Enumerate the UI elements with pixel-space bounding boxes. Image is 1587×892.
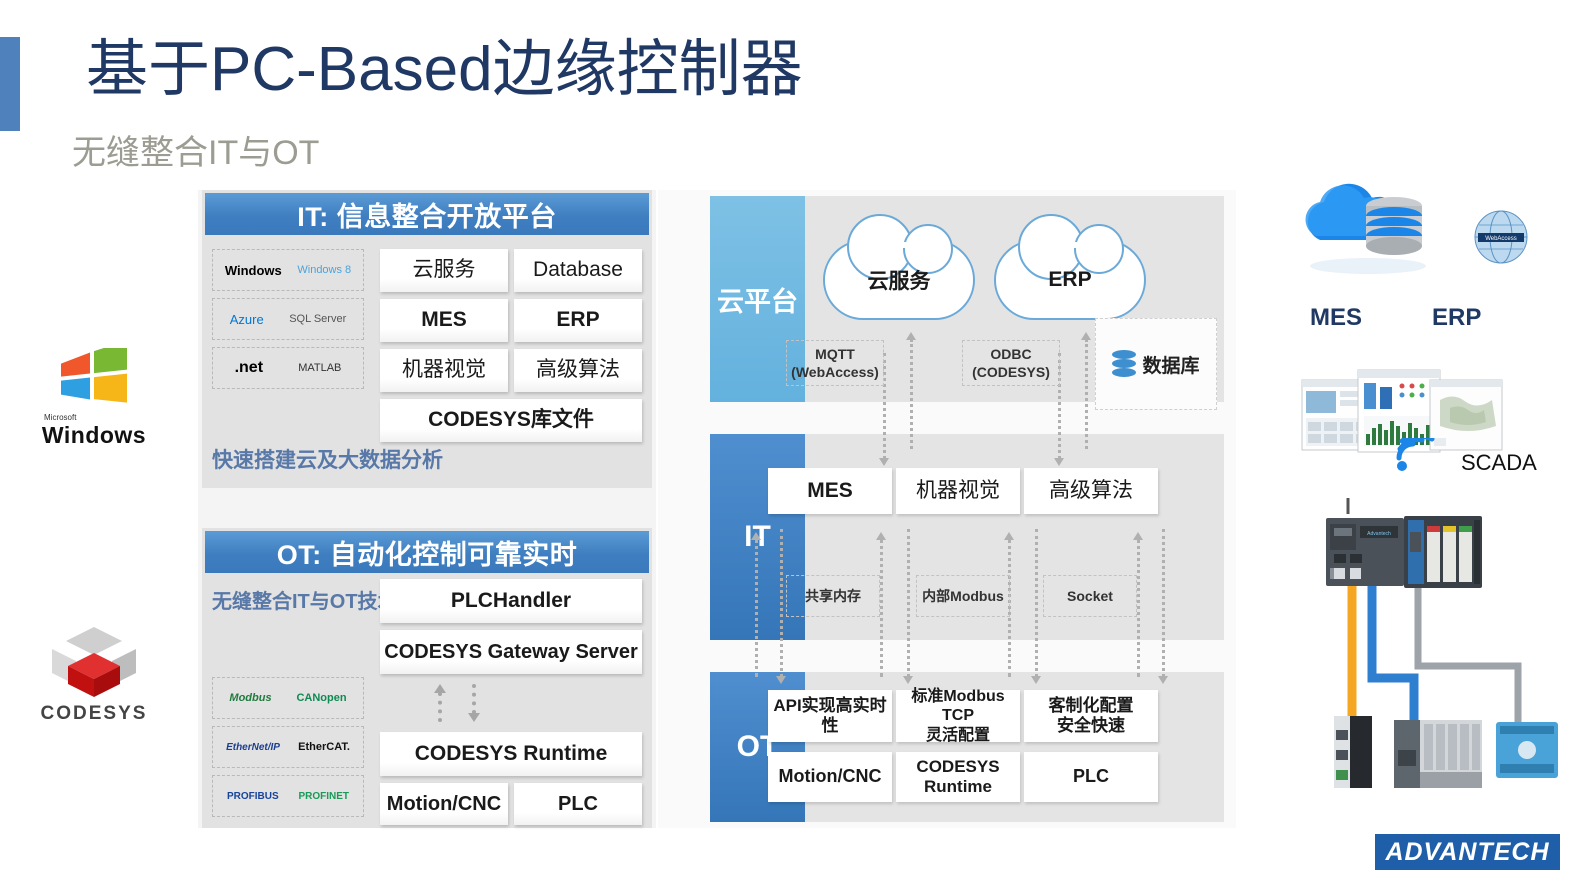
ot-inner-arrow-up: [434, 684, 446, 730]
mid-box-custom-config-line1: 客制化配置: [1049, 696, 1134, 715]
interface-box-internal-modbus[interactable]: 内部Modbus: [916, 575, 1010, 617]
database-icon: [1112, 350, 1136, 378]
logo-tile-profibus: PROFIBUS PROFINET: [212, 775, 364, 817]
database-card[interactable]: 数据库: [1095, 318, 1217, 410]
protocol-box-mqtt[interactable]: MQTT (WebAccess): [786, 340, 884, 386]
box-codesys-runtime[interactable]: CODESYS Runtime: [380, 732, 642, 776]
left-it-header: IT: 信息整合开放平台: [205, 193, 649, 235]
mid-box-plc[interactable]: PLC: [1024, 752, 1158, 802]
left-ot-section: OT: 自动化控制可靠实时 无缝整合IT与OT技术 Modbus CANopen…: [202, 528, 652, 828]
box-machine-vision[interactable]: 机器视觉: [380, 349, 508, 392]
protocol-mqtt-line2: (WebAccess): [791, 364, 879, 380]
codesys-caption: CODESYS: [41, 703, 148, 724]
left-ot-header: OT: 自动化控制可靠实时: [205, 531, 649, 573]
protocol-odbc-line2: (CODESYS): [972, 364, 1050, 380]
mid-box-custom-config-line2: 安全快速: [1057, 716, 1125, 735]
mid-box-api-realtime[interactable]: API实现高实时性: [768, 690, 892, 742]
box-codesys-gateway-server[interactable]: CODESYS Gateway Server: [380, 630, 642, 674]
windows-vendor-label: Microsoft: [44, 414, 174, 422]
windows-caption: Windows: [42, 422, 146, 448]
left-it-row-2: MES ERP: [380, 299, 642, 342]
box-mes[interactable]: MES: [380, 299, 508, 342]
mid-box-api-realtime-line1: API实现高实时性: [773, 696, 886, 735]
box-plchandler[interactable]: PLCHandler: [380, 579, 642, 623]
protocol-mqtt-line1: MQTT: [815, 346, 855, 362]
logo-tile-ethernetip: EtherNet/IP EtherCAT.: [212, 726, 364, 768]
right-illustration-column: WebAccess MES ERP: [1290, 178, 1587, 892]
mid-box-plc-line1: PLC: [1073, 766, 1109, 786]
webaccess-badge-label: WebAccess: [1485, 236, 1517, 242]
arrow-it-ot-4-down: [1158, 522, 1169, 684]
codesys-cube-icon: [46, 625, 142, 699]
interface-box-shared-memory[interactable]: 共享内存: [786, 575, 880, 617]
logo-dotnet-label: .net: [235, 359, 263, 377]
box-cloud-service[interactable]: 云服务: [380, 249, 508, 292]
box-database[interactable]: Database: [514, 249, 642, 292]
box-motion-cnc[interactable]: Motion/CNC: [380, 783, 508, 825]
box-erp[interactable]: ERP: [514, 299, 642, 342]
left-it-note: 快速搭建云及大数据分析: [212, 444, 443, 474]
left-it-row-1: 云服务 Database: [380, 249, 642, 292]
logo-tile-dotnet: .net MATLAB: [212, 347, 364, 389]
protocol-odbc-line1: ODBC: [990, 346, 1031, 362]
logo-canopen-label: CANopen: [296, 692, 346, 704]
mid-box-machine-vision[interactable]: 机器视觉: [896, 468, 1020, 514]
left-it-section: IT: 信息整合开放平台 Windows Windows 8 Azure SQL…: [202, 190, 652, 488]
logo-tile-windows: Windows Windows 8: [212, 249, 364, 291]
mid-box-motion-cnc-line1: Motion/CNC: [779, 766, 882, 786]
arrow-mqtt-cloud-up: [906, 332, 917, 456]
box-codesys-library[interactable]: CODESYS库文件: [380, 399, 642, 442]
mid-box-modbus-tcp-line2: 灵活配置: [926, 727, 990, 744]
codesys-logo: CODESYS: [14, 625, 174, 725]
mid-box-custom-config[interactable]: 客制化配置 安全快速: [1024, 690, 1158, 742]
mid-box-codesys-runtime[interactable]: CODESYS Runtime: [896, 752, 1020, 802]
interface-box-socket[interactable]: Socket: [1043, 575, 1137, 617]
windows-flag-icon: [57, 348, 131, 410]
left-ot-note: 无缝整合IT与OT技术: [212, 585, 398, 614]
logo-azure-label: Azure: [230, 312, 264, 327]
logo-modbus-label: Modbus: [229, 692, 271, 704]
label-scada: SCADA: [1461, 450, 1537, 476]
logo-tile-modbus: Modbus CANopen: [212, 677, 364, 719]
arrow-odbc-cloud-up: [1081, 332, 1092, 456]
logo-matlab-label: MATLAB: [298, 362, 341, 374]
label-erp: ERP: [1432, 304, 1481, 332]
logo-windows8-label: Windows 8: [297, 264, 351, 276]
left-ot-bottom-row: Motion/CNC PLC: [380, 783, 642, 825]
left-it-row-3: 机器视觉 高级算法: [380, 349, 642, 392]
protocol-box-odbc[interactable]: ODBC (CODESYS): [962, 340, 1060, 386]
windows-logo: Microsoft Windows: [14, 348, 174, 449]
ot-inner-arrow-down: [468, 676, 480, 722]
logo-ethercat-label: EtherCAT.: [298, 741, 350, 753]
cloud-service-node[interactable]: 云服务: [823, 240, 975, 320]
left-architecture-panel: IT: 信息整合开放平台 Windows Windows 8 Azure SQL…: [198, 190, 656, 828]
cloud-service-label: 云服务: [868, 265, 931, 295]
logo-ethernetip-label: EtherNet/IP: [226, 742, 280, 753]
label-mes: MES: [1310, 304, 1362, 332]
middle-architecture-panel: 云平台 IT OT 云服务 ERP MQTT (WebAccess) ODBC …: [658, 190, 1236, 828]
svg-text:Advantech: Advantech: [1367, 531, 1391, 537]
cloud-database-art: [1298, 178, 1438, 283]
advantech-logo: ADVANTECH: [1375, 834, 1560, 870]
database-card-label: 数据库: [1142, 351, 1199, 378]
box-advanced-algorithm[interactable]: 高级算法: [514, 349, 642, 392]
arrow-it-ot-2-down: [903, 522, 914, 684]
logo-profinet-label: PROFINET: [298, 791, 349, 802]
cloud-erp-node[interactable]: ERP: [994, 240, 1146, 320]
mid-box-codesys-runtime-line1: CODESYS: [916, 757, 999, 776]
page-subtitle: 无缝整合IT与OT: [72, 125, 319, 174]
logo-tile-azure: Azure SQL Server: [212, 298, 364, 340]
mid-box-motion-cnc[interactable]: Motion/CNC: [768, 752, 892, 802]
logo-windows-label: Windows: [225, 263, 282, 278]
mid-box-mes[interactable]: MES: [768, 468, 892, 514]
cloud-erp-label: ERP: [1048, 268, 1091, 292]
logo-sqlserver-label: SQL Server: [289, 313, 346, 325]
industrial-hardware-art: Advantech: [1290, 498, 1587, 828]
page-title: 基于PC-Based边缘控制器: [86, 36, 803, 104]
mid-box-modbus-tcp-line1: 标准Modbus TCP: [911, 688, 1004, 724]
wifi-signal-icon: [1393, 438, 1437, 472]
box-plc[interactable]: PLC: [514, 783, 642, 825]
logo-profibus-label: PROFIBUS: [227, 791, 279, 802]
arrow-it-ot-3-down: [1031, 522, 1042, 684]
mid-box-advanced-algorithm[interactable]: 高级算法: [1024, 468, 1158, 514]
arrow-it-ot-1-up: [751, 532, 762, 684]
title-accent-bar: [0, 37, 20, 131]
webaccess-globe-icon: WebAccess: [1472, 208, 1530, 266]
mid-box-codesys-runtime-line2: Runtime: [924, 777, 992, 796]
mid-box-modbus-tcp[interactable]: 标准Modbus TCP 灵活配置: [896, 690, 1020, 742]
